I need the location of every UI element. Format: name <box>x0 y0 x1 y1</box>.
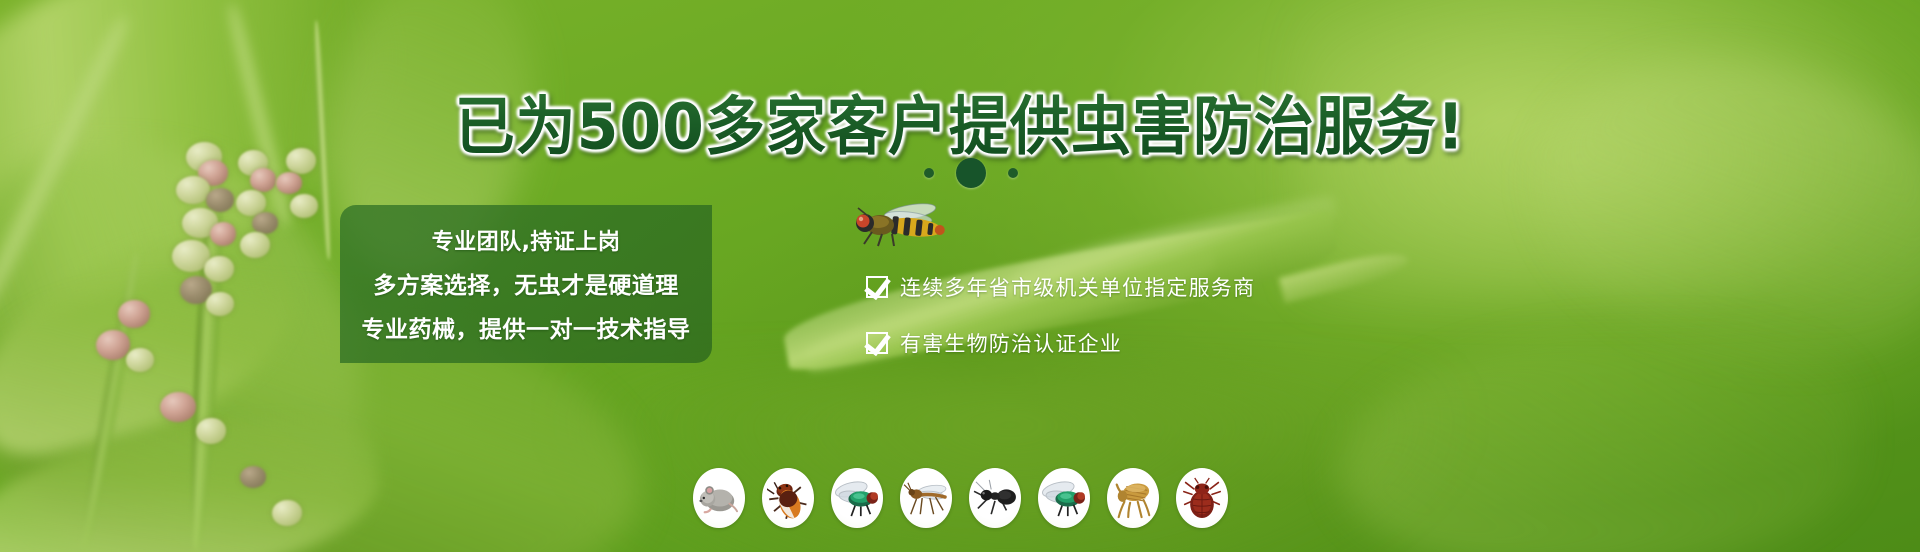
bedbug-icon[interactable] <box>1176 468 1228 528</box>
feature-line-3: 专业药械，提供一对一技术指导 <box>362 310 691 344</box>
checklist-item-1: 连续多年省市级机关单位指定服务商 <box>866 272 1255 302</box>
checklist-label-2: 有害生物防治认证企业 <box>900 328 1122 358</box>
promo-banner: 已为500多家客户提供虫害防治服务! 专业团队,持证上岗 多方案选择，无虫才是硬… <box>0 0 1920 552</box>
credentials-checklist: 连续多年省市级机关单位指定服务商 有害生物防治认证企业 <box>866 272 1255 358</box>
pest-icon-strip <box>0 468 1920 528</box>
dot-large-center <box>956 158 986 188</box>
checklist-item-2: 有害生物防治认证企业 <box>866 328 1255 358</box>
decorative-dots <box>0 158 1920 188</box>
hoverfly-icon <box>852 196 956 252</box>
feature-highlight-box: 专业团队,持证上岗 多方案选择，无虫才是硬道理 专业药械，提供一对一技术指导 <box>340 205 712 363</box>
checkbox-checked-icon <box>866 332 888 354</box>
flea-icon[interactable] <box>1107 468 1159 528</box>
fly-icon[interactable] <box>831 468 883 528</box>
background-leaf-right-upper <box>1540 60 1920 360</box>
cockroach-icon[interactable] <box>762 468 814 528</box>
checkbox-checked-icon <box>866 276 888 298</box>
mosquito-icon[interactable] <box>900 468 952 528</box>
feature-line-1: 专业团队,持证上岗 <box>432 224 621 256</box>
dot-small-right <box>1008 168 1018 178</box>
checklist-label-1: 连续多年省市级机关单位指定服务商 <box>900 272 1255 302</box>
feature-line-2: 多方案选择，无虫才是硬道理 <box>373 266 679 300</box>
dot-small-left <box>924 168 934 178</box>
mouse-icon[interactable] <box>693 468 745 528</box>
fly-icon-2[interactable] <box>1038 468 1090 528</box>
ant-icon[interactable] <box>969 468 1021 528</box>
